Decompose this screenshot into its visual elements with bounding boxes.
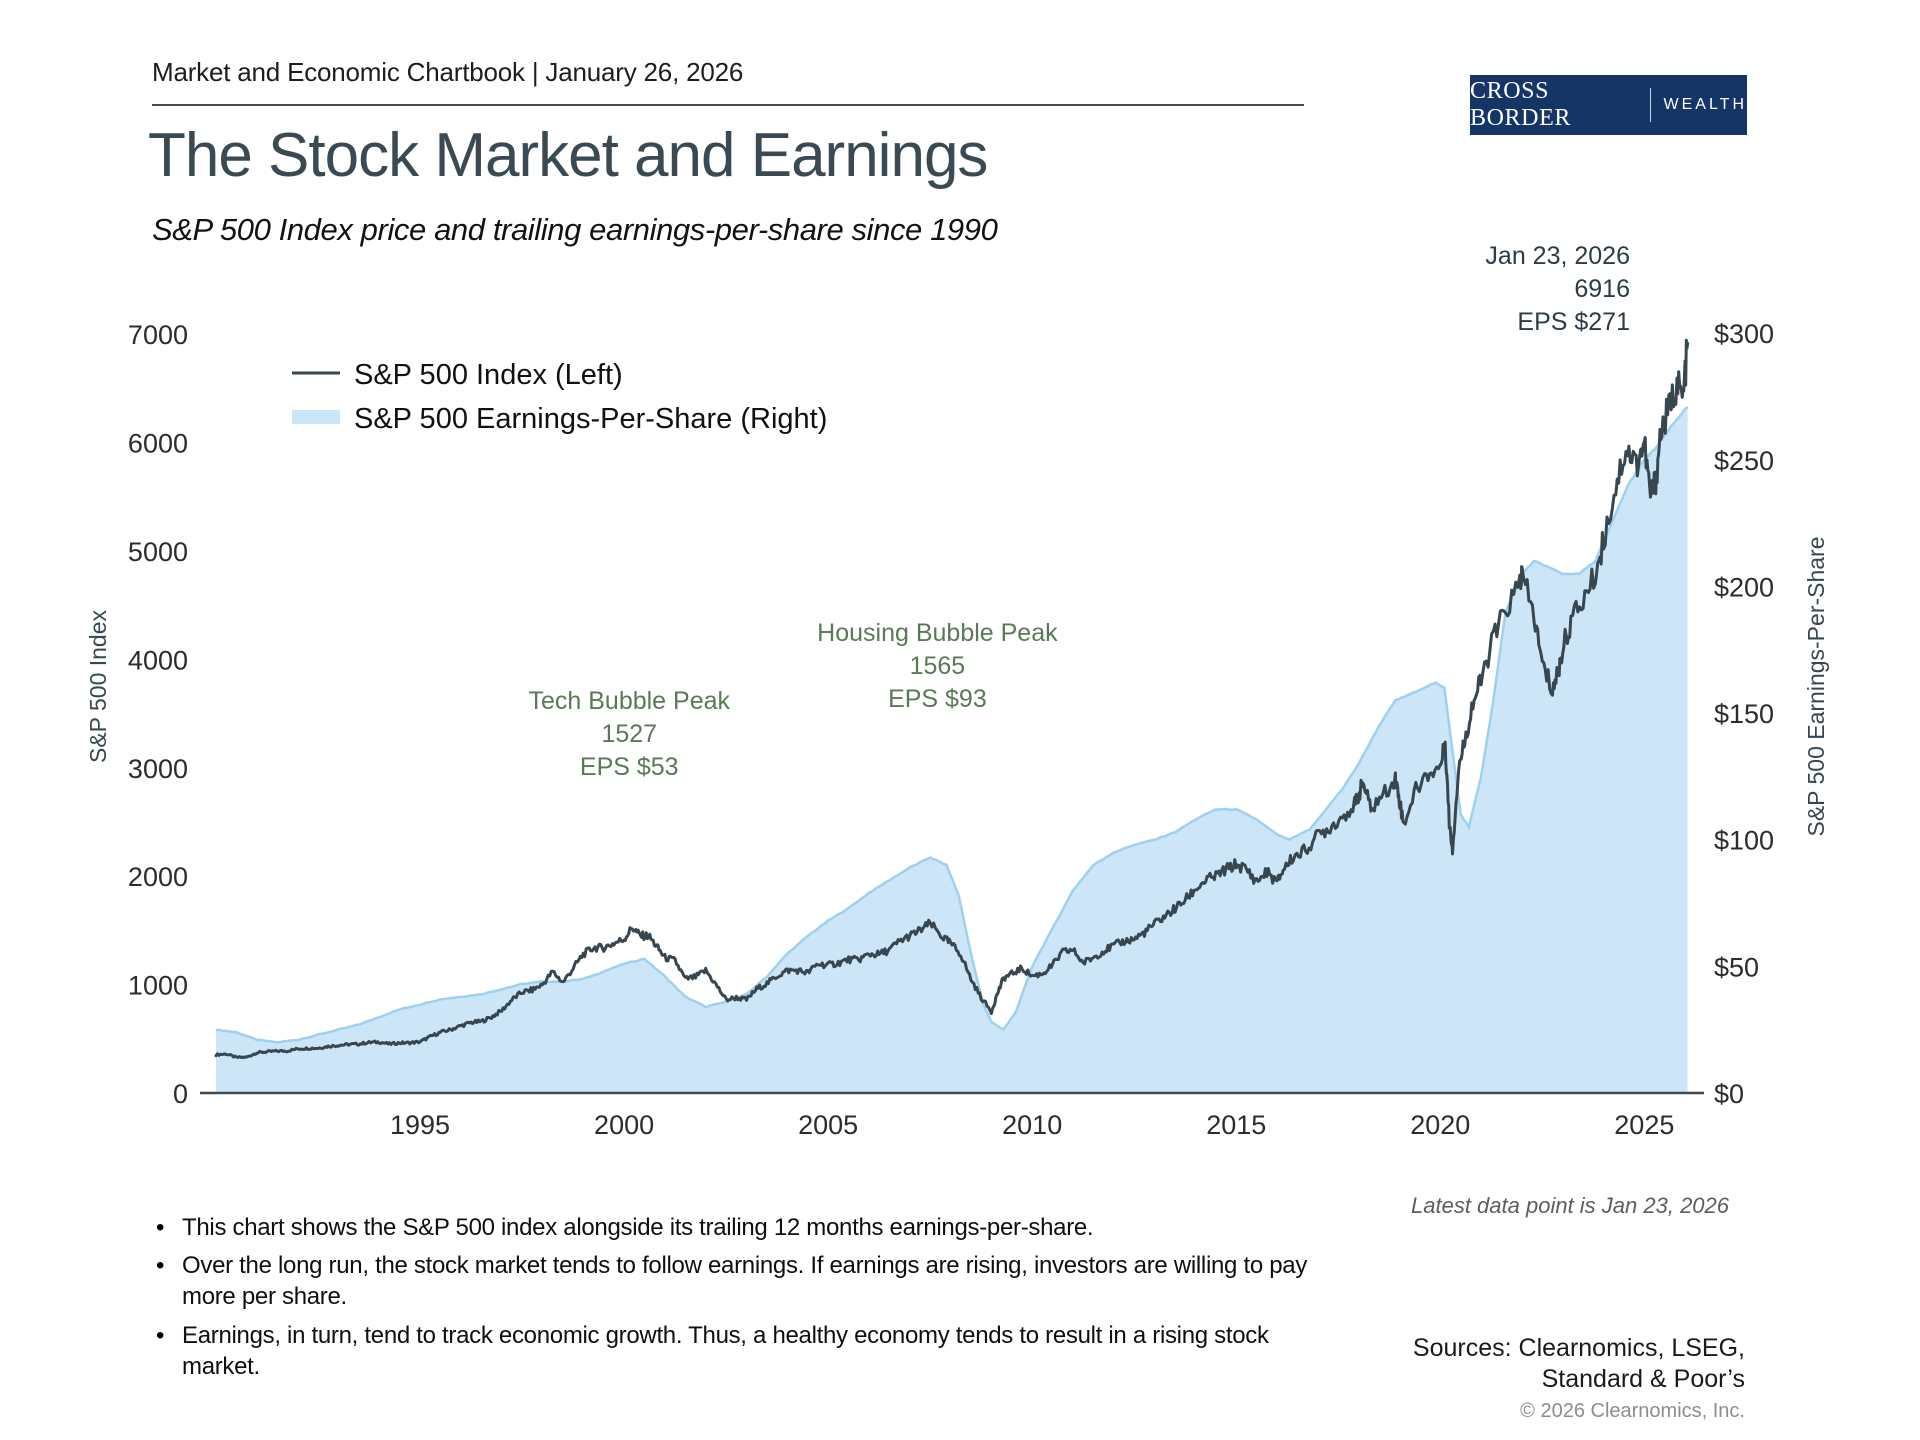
- legend-label: S&P 500 Index (Left): [354, 359, 623, 391]
- left-axis-tick-label: 2000: [128, 862, 188, 892]
- header-divider: [152, 104, 1304, 106]
- x-axis-tick-label: 2020: [1410, 1110, 1470, 1140]
- left-axis-tick-label: 1000: [128, 971, 188, 1001]
- x-axis-ticks: 1995200020052010201520202025: [390, 1110, 1674, 1140]
- left-axis-tick-label: 3000: [128, 754, 188, 784]
- x-axis-tick-label: 1995: [390, 1110, 450, 1140]
- right-axis-tick-label: $150: [1714, 699, 1774, 729]
- annotation-label: Tech Bubble Peak: [528, 687, 730, 715]
- annotation-label: 1527: [601, 720, 657, 748]
- right-axis-ticks: $0$50$100$150$200$250$300: [1714, 319, 1774, 1109]
- left-axis-tick-label: 4000: [128, 645, 188, 675]
- annotation-label: EPS $93: [888, 685, 987, 713]
- brand-logo-divider: [1650, 88, 1651, 122]
- left-axis-ticks: 01000200030004000500060007000: [128, 320, 188, 1109]
- annotation-label: Housing Bubble Peak: [817, 619, 1058, 647]
- left-axis-tick-label: 5000: [128, 537, 188, 567]
- annotation-label: 1565: [910, 652, 966, 680]
- plot-layers: [216, 340, 1688, 1093]
- x-axis-tick-label: 2000: [594, 1110, 654, 1140]
- sources-note: Sources: Clearnomics, LSEG, Standard & P…: [1413, 1333, 1745, 1396]
- header-kicker: Market and Economic Chartbook | January …: [152, 57, 743, 88]
- brand-logo: CROSS BORDER WEALTH: [1470, 75, 1747, 135]
- list-item: • This chart shows the S&P 500 index alo…: [156, 1212, 1336, 1243]
- brand-logo-primary: CROSS BORDER: [1470, 78, 1637, 132]
- latest-callout-label: Jan 23, 2026: [1485, 242, 1630, 270]
- left-axis-tick-label: 6000: [128, 429, 188, 459]
- latest-data-point-note: Latest data point is Jan 23, 2026: [1411, 1193, 1729, 1219]
- x-axis-tick-label: 2025: [1614, 1110, 1674, 1140]
- chart-annotations: Tech Bubble Peak1527EPS $53Housing Bubbl…: [528, 242, 1630, 781]
- x-axis-tick-label: 2010: [1002, 1110, 1062, 1140]
- bullet-text: Over the long run, the stock market tend…: [182, 1250, 1332, 1312]
- chart-legend: S&P 500 Index (Left)S&P 500 Earnings-Per…: [292, 359, 827, 435]
- bullet-list: • This chart shows the S&P 500 index alo…: [156, 1212, 1336, 1389]
- right-axis-tick-label: $300: [1714, 319, 1774, 349]
- x-axis-tick-label: 2005: [798, 1110, 858, 1140]
- bullet-dot-icon: •: [156, 1250, 182, 1278]
- right-axis-tick-label: $100: [1714, 826, 1774, 856]
- left-axis-tick-label: 7000: [128, 320, 188, 350]
- legend-label: S&P 500 Earnings-Per-Share (Right): [354, 403, 827, 435]
- list-item: • Earnings, in turn, tend to track econo…: [156, 1320, 1336, 1382]
- legend-swatch-area: [292, 410, 340, 424]
- copyright-note: © 2026 Clearnomics, Inc.: [1520, 1400, 1745, 1423]
- bullet-text: This chart shows the S&P 500 index along…: [182, 1212, 1093, 1243]
- latest-callout-label: 6916: [1574, 275, 1630, 303]
- eps-area-path: [216, 407, 1688, 1093]
- left-axis-tick-label: 0: [173, 1079, 188, 1109]
- right-axis-tick-label: $50: [1714, 952, 1759, 982]
- chart-figure: 01000200030004000500060007000 $0$50$100$…: [0, 240, 1920, 1160]
- annotation-label: EPS $53: [580, 753, 679, 781]
- bullet-dot-icon: •: [156, 1320, 182, 1348]
- bullet-dot-icon: •: [156, 1212, 182, 1240]
- list-item: • Over the long run, the stock market te…: [156, 1250, 1336, 1312]
- page-title: The Stock Market and Earnings: [148, 120, 987, 191]
- right-axis-title: S&P 500 Earnings-Per-Share: [1803, 536, 1829, 836]
- chart-svg: 01000200030004000500060007000 $0$50$100$…: [0, 240, 1920, 1160]
- right-axis-tick-label: $200: [1714, 572, 1774, 602]
- right-axis-tick-label: $250: [1714, 446, 1774, 476]
- x-axis-tick-label: 2015: [1206, 1110, 1266, 1140]
- slide-root: Market and Economic Chartbook | January …: [0, 0, 1920, 1440]
- right-axis-tick-label: $0: [1714, 1079, 1744, 1109]
- latest-callout-label: EPS $271: [1517, 308, 1630, 336]
- left-axis-title: S&P 500 Index: [85, 609, 111, 763]
- brand-logo-secondary: WEALTH: [1664, 96, 1747, 114]
- bullet-text: Earnings, in turn, tend to track economi…: [182, 1320, 1332, 1382]
